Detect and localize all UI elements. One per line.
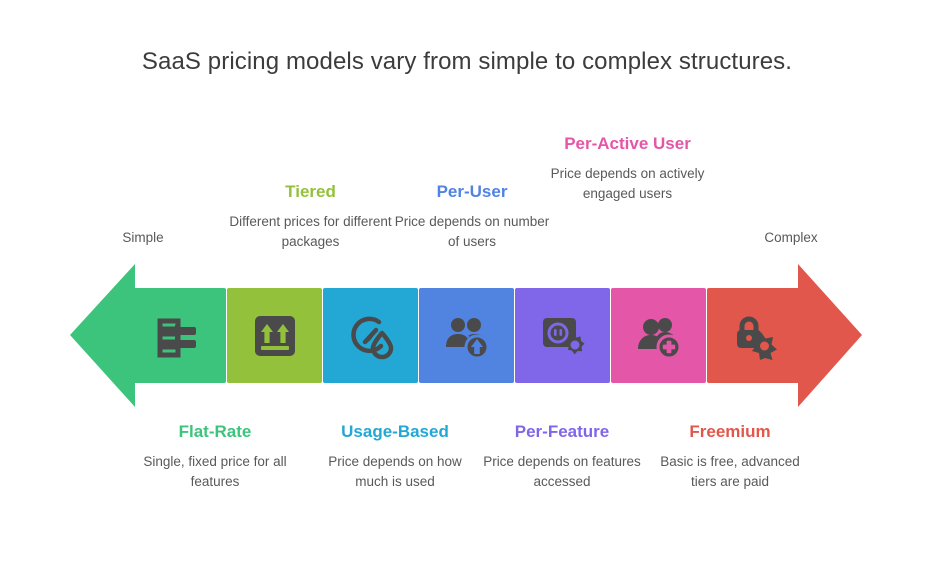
tile-per-feature[interactable] [515, 288, 610, 383]
callout-flat-rate: Flat-Rate Single, fixed price for all fe… [132, 420, 298, 492]
callout-per-feature: Per-Feature Price depends on features ac… [483, 420, 641, 492]
page-title: SaaS pricing models vary from simple to … [0, 48, 934, 76]
users-add-icon [634, 311, 684, 361]
callout-desc-flat-rate: Single, fixed price for all features [132, 452, 298, 492]
lock-star-icon [730, 311, 780, 361]
complex-arrow-head-icon [798, 264, 862, 407]
callout-title-freemium: Freemium [657, 420, 803, 443]
tile-freemium[interactable] [707, 288, 802, 383]
callout-title-per-feature: Per-Feature [483, 420, 641, 443]
bar-chart-icon [154, 311, 204, 361]
simple-arrow-head-icon [70, 264, 135, 407]
callout-desc-freemium: Basic is free, advanced tiers are paid [657, 452, 803, 492]
callout-desc-per-active-user: Price depends on actively engaged users [550, 164, 705, 204]
callout-desc-per-feature: Price depends on features accessed [483, 452, 641, 492]
endpoint-label-complex: Complex [736, 230, 846, 245]
gauge-drop-icon [346, 311, 396, 361]
callout-desc-usage-based: Price depends on how much is used [310, 452, 480, 492]
callout-tiered: Tiered Different prices for different pa… [228, 180, 393, 252]
callout-per-user: Per-User Price depends on number of user… [392, 180, 552, 252]
callout-title-usage-based: Usage-Based [310, 420, 480, 443]
tile-usage-based[interactable] [323, 288, 418, 383]
screen-gear-icon [538, 311, 588, 361]
callout-title-flat-rate: Flat-Rate [132, 420, 298, 443]
endpoint-label-simple: Simple [88, 230, 198, 245]
users-arrow-up-icon [442, 311, 492, 361]
callout-usage-based: Usage-Based Price depends on how much is… [310, 420, 480, 492]
pricing-model-tiles [131, 288, 804, 383]
callout-title-per-user: Per-User [392, 180, 552, 203]
callout-freemium: Freemium Basic is free, advanced tiers a… [657, 420, 803, 492]
callout-title-tiered: Tiered [228, 180, 393, 203]
callout-per-active-user: Per-Active User Price depends on activel… [550, 132, 705, 204]
tile-tiered[interactable] [227, 288, 322, 383]
tiered-arrows-icon [250, 311, 300, 361]
callout-desc-tiered: Different prices for different packages [228, 212, 393, 252]
tile-per-user[interactable] [419, 288, 514, 383]
callout-title-per-active-user: Per-Active User [550, 132, 705, 155]
tile-flat-rate[interactable] [131, 288, 226, 383]
tile-per-active-user[interactable] [611, 288, 706, 383]
callout-desc-per-user: Price depends on number of users [392, 212, 552, 252]
